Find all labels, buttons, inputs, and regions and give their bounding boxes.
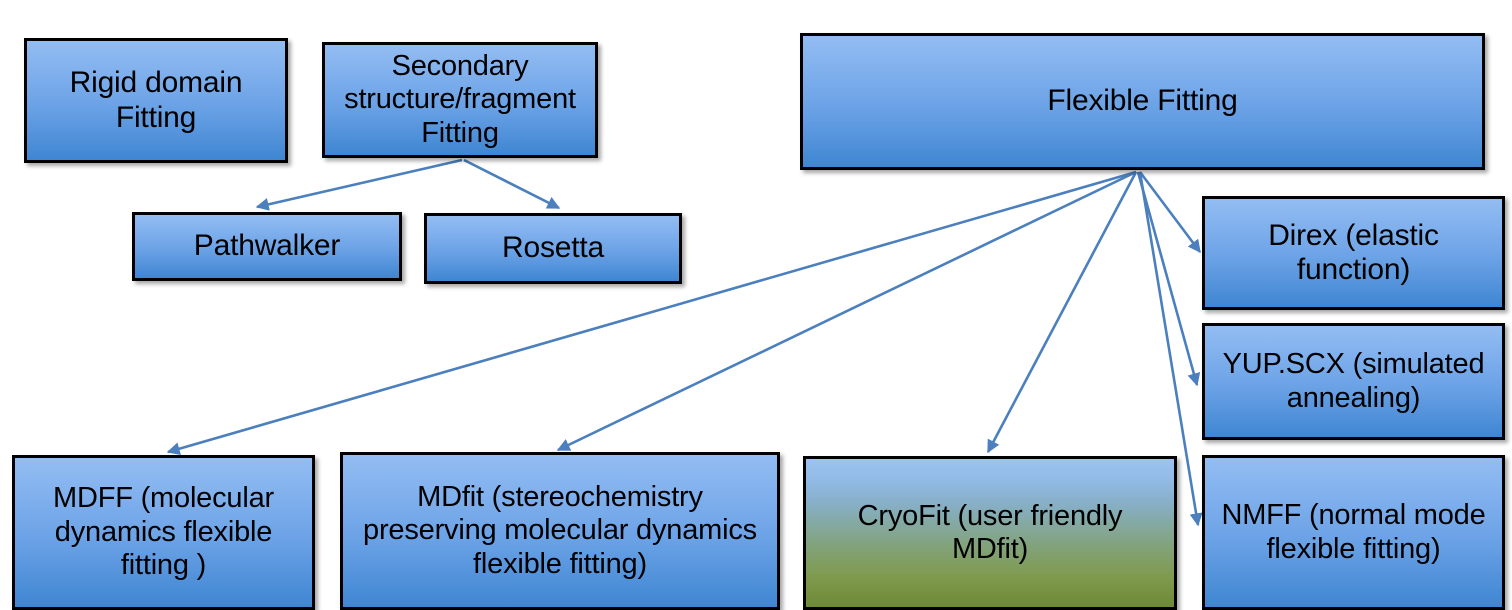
arrow-flexible-to-cryofit: [988, 172, 1136, 452]
node-secondary-structure-fragment-fitting[interactable]: Secondary structure/fragment Fitting: [322, 42, 598, 158]
node-label-mdfit: MDfit (stereochemistry preserving molecu…: [351, 481, 769, 581]
node-pathwalker[interactable]: Pathwalker: [132, 212, 402, 281]
node-label-yup-scx: YUP.SCX (simulated annealing): [1213, 348, 1494, 415]
arrow-flexible-to-yupscx: [1138, 172, 1197, 385]
node-yup-scx[interactable]: YUP.SCX (simulated annealing): [1202, 323, 1505, 440]
node-label-nmff: NMFF (normal mode flexible fitting): [1213, 499, 1494, 566]
node-label-cryofit: CryoFit (user friendly MDfit): [814, 500, 1166, 567]
node-label-flexible-fitting: Flexible Fitting: [811, 84, 1474, 119]
node-label-rigid-domain-fitting: Rigid domain Fitting: [35, 66, 277, 135]
node-label-pathwalker: Pathwalker: [143, 229, 391, 264]
node-rosetta[interactable]: Rosetta: [424, 213, 682, 284]
arrow-secondary-to-rosetta: [464, 160, 559, 208]
node-cryofit[interactable]: CryoFit (user friendly MDfit): [803, 456, 1177, 610]
node-label-rosetta: Rosetta: [435, 231, 671, 266]
arrow-secondary-to-pathwalker: [257, 160, 462, 207]
node-label-secondary-structure-fragment-fitting: Secondary structure/fragment Fitting: [333, 50, 587, 150]
node-nmff[interactable]: NMFF (normal mode flexible fitting): [1202, 455, 1505, 610]
node-label-mdff: MDFF (molecular dynamics flexible fittin…: [23, 482, 304, 582]
node-label-direx: Direx (elastic function): [1213, 219, 1494, 288]
node-flexible-fitting[interactable]: Flexible Fitting: [800, 33, 1485, 170]
node-mdff[interactable]: MDFF (molecular dynamics flexible fittin…: [12, 455, 315, 610]
diagram-canvas: Rigid domain FittingSecondary structure/…: [0, 0, 1512, 610]
node-mdfit[interactable]: MDfit (stereochemistry preserving molecu…: [340, 452, 780, 610]
node-rigid-domain-fitting[interactable]: Rigid domain Fitting: [24, 38, 288, 163]
node-direx[interactable]: Direx (elastic function): [1202, 196, 1505, 310]
arrow-flexible-to-direx: [1140, 172, 1200, 252]
